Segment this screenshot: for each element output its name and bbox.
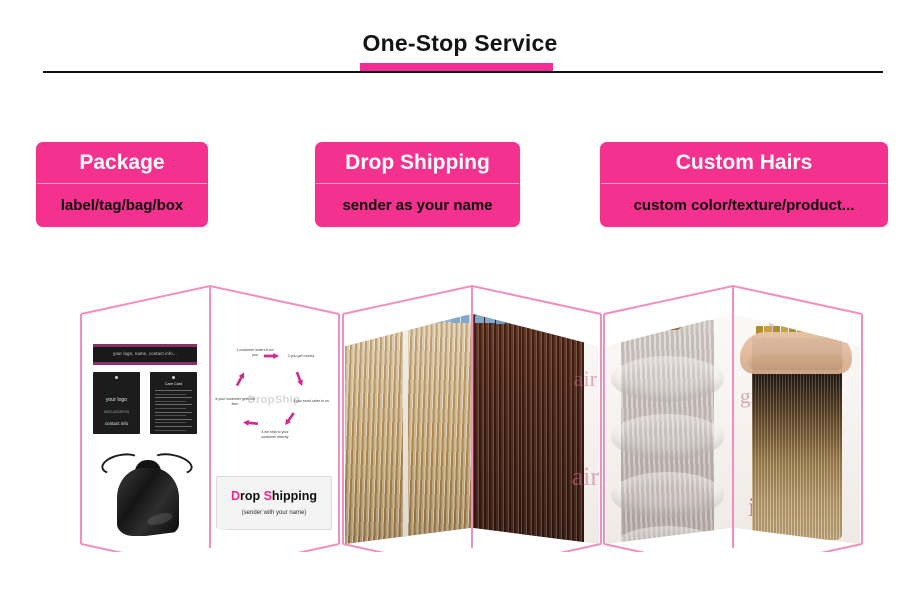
cycle-step-label: 5.your customer gets the item [215, 397, 255, 407]
dropship-caption-rop: rop [240, 489, 264, 503]
dropship-cycle-diagram: DropShip 1.customer orders from you 2.yo… [217, 342, 331, 462]
tag-hole-icon [115, 376, 118, 379]
feature-card-title: Drop Shipping [315, 142, 520, 183]
tag-logo-line: your logo [93, 397, 140, 403]
panel-image-brown-weft: air air [473, 314, 599, 544]
bag-highlight [146, 511, 174, 528]
dropship-caption-subtitle: (sender with your name) [217, 510, 331, 516]
brown-hair-texture-b [521, 314, 584, 544]
cycle-arrow-icon [234, 371, 246, 387]
tag-contact-line: contact info [93, 421, 140, 426]
panel-image-blonde-weft [345, 314, 471, 544]
logo-banner: your logo, name, contact info... [93, 344, 197, 365]
tag-hole-icon [172, 376, 175, 379]
hand-holding-hair [740, 332, 852, 374]
panel-hair-wefts[interactable]: air air [337, 280, 607, 552]
tape-tab-row [345, 314, 471, 326]
cycle-arrow-icon [294, 371, 305, 387]
blonde-hair-texture [345, 314, 471, 544]
tape-tab-row [473, 314, 599, 326]
cycle-arrow-icon [243, 419, 258, 426]
dropship-caption-d: D [231, 489, 240, 503]
page-title: One-Stop Service [0, 30, 920, 57]
bag-body [117, 468, 179, 536]
dropship-caption-hipping: hipping [272, 489, 317, 503]
bundle-tie [646, 314, 682, 330]
care-card-text-lines [155, 390, 192, 433]
dropship-caption-title: Drop Shipping [217, 489, 331, 503]
feature-card-subtitle: label/tag/bag/box [36, 184, 208, 227]
wave-band [611, 526, 724, 544]
feature-card-drop-shipping[interactable]: Drop Shipping sender as your name [315, 142, 520, 227]
watermark-text: air [572, 462, 599, 492]
panel-image-grey-wave [606, 314, 732, 544]
wave-band [611, 472, 724, 518]
logo-banner-text: your logo, name, contact info... [93, 351, 197, 356]
feature-card-subtitle: sender as your name [315, 184, 520, 227]
cycle-step-label: 2.you get money [281, 354, 321, 359]
wave-band [611, 356, 724, 402]
feature-card-custom-hairs[interactable]: Custom Hairs custom color/texture/produc… [600, 142, 888, 227]
cycle-step-label: 4.we ship to your customer directly [255, 430, 295, 440]
panel-image-ombre-hair: V gi ir [734, 314, 860, 544]
hang-tag-logo-card: your logo WEB-ADDRESS contact info [93, 372, 140, 434]
title-accent-bar [360, 63, 553, 71]
cycle-arrow-icon [283, 411, 297, 427]
panel-custom-hairs[interactable]: V gi ir [598, 280, 868, 552]
care-card-title: Care Card [150, 382, 197, 386]
watermark-text: air [574, 366, 597, 392]
satin-drawstring-bag [99, 442, 195, 538]
grey-hair-texture [621, 320, 714, 544]
tag-web-line: WEB-ADDRESS [93, 410, 140, 414]
hang-tag-care-card: Care Card [150, 372, 197, 434]
panel-package-drop-shipping[interactable]: your logo, name, contact info... your lo… [75, 280, 345, 552]
dropship-caption-s: S [264, 489, 272, 503]
feature-card-subtitle: custom color/texture/product... [600, 184, 888, 227]
panel-image-package-left: your logo, name, contact info... your lo… [83, 314, 209, 544]
cycle-step-label: 3.you send order to us [291, 399, 331, 404]
feature-card-title: Package [36, 142, 208, 183]
wave-band [611, 414, 724, 460]
panel-row: your logo, name, contact info... your lo… [0, 280, 920, 555]
feature-card-title: Custom Hairs [600, 142, 888, 183]
dropship-caption-box: Drop Shipping (sender with your name) [216, 476, 332, 530]
feature-card-row: Package label/tag/bag/box Drop Shipping … [0, 142, 920, 228]
feature-card-package[interactable]: Package label/tag/bag/box [36, 142, 208, 227]
one-stop-service-page: One-Stop Service Package label/tag/bag/b… [0, 0, 920, 600]
weft-separator [403, 314, 408, 544]
panel-image-dropship-right: DropShip 1.customer orders from you 2.yo… [211, 314, 337, 544]
header-divider-rule [43, 71, 883, 73]
